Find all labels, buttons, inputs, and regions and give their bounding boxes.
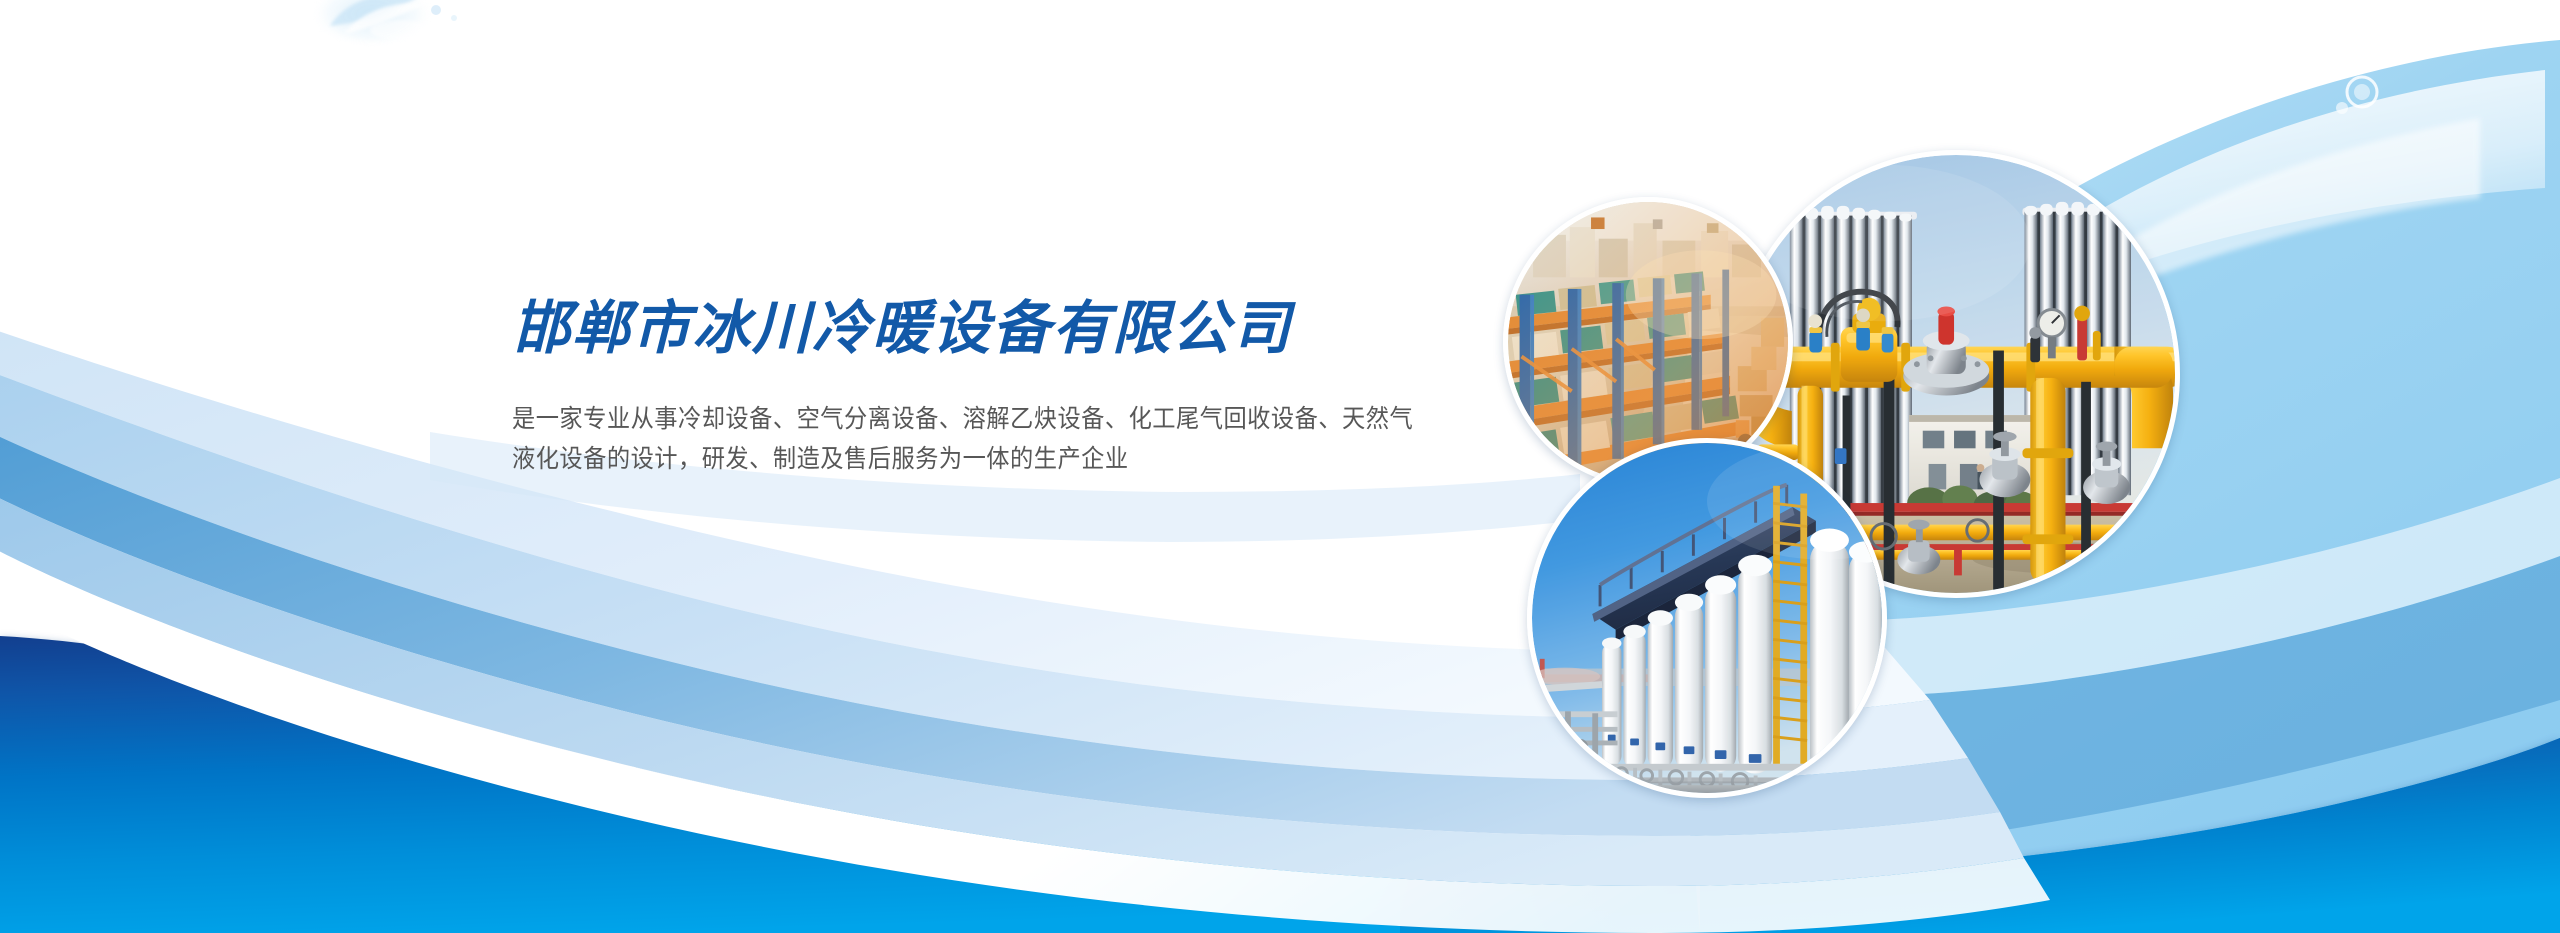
cryogenic-tanks-photo	[1527, 438, 1887, 798]
company-hero-banner: 邯郸市冰川冷暖设备有限公司 是一家专业从事冷却设备、空气分离设备、溶解乙炔设备、…	[0, 0, 2560, 933]
company-tagline: 是一家专业从事冷却设备、空气分离设备、溶解乙炔设备、化工尾气回收设备、天然气 液…	[512, 399, 1512, 479]
banner-text-block: 邯郸市冰川冷暖设备有限公司 是一家专业从事冷却设备、空气分离设备、溶解乙炔设备、…	[512, 298, 1522, 479]
company-title: 邯郸市冰川冷暖设备有限公司	[512, 298, 1522, 361]
tagline-line-1: 是一家专业从事冷却设备、空气分离设备、溶解乙炔设备、化工尾气回收设备、天然气	[512, 399, 1442, 439]
tagline-line-2: 液化设备的设计，研发、制造及售后服务为一体的生产企业	[512, 439, 1442, 479]
